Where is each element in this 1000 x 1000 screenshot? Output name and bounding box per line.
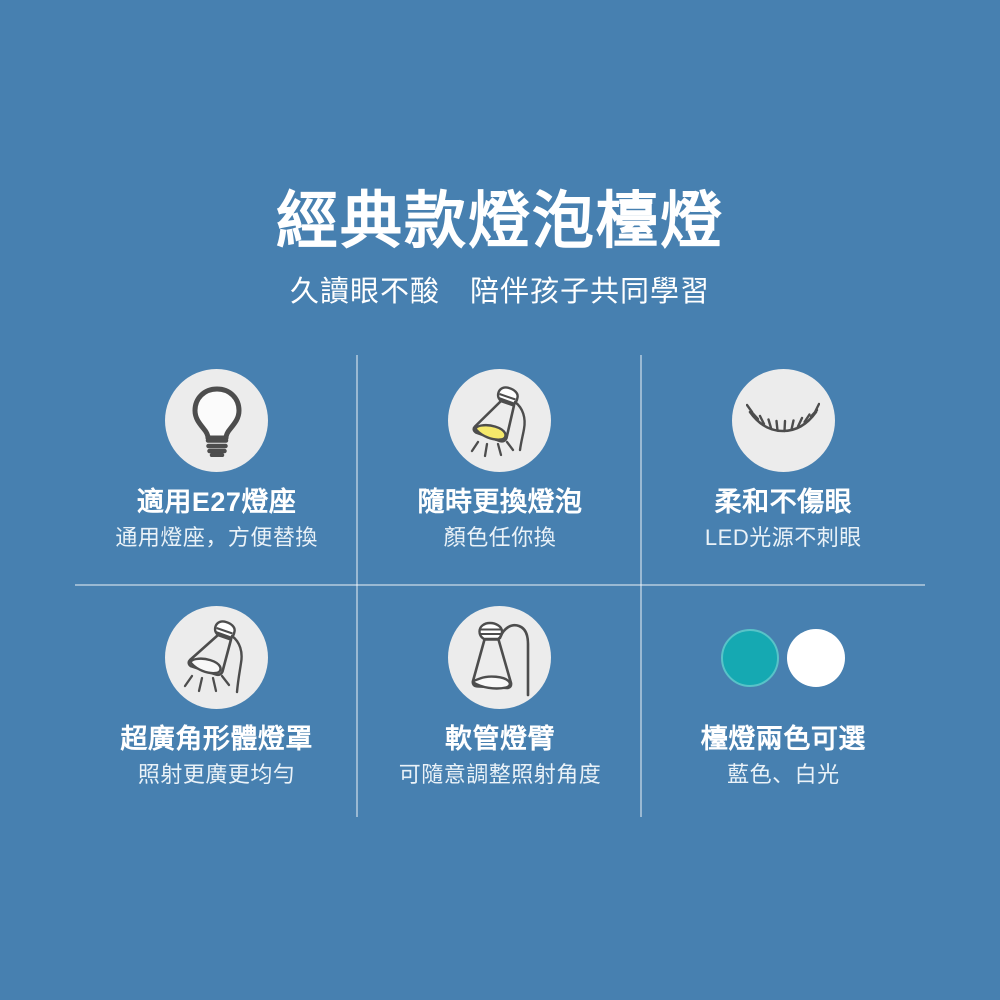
- wide-angle-lamp-shade-icon: [165, 606, 268, 709]
- feature-cell-two-colors: 檯燈兩色可選 藍色、白光: [642, 586, 925, 817]
- feature-cell-wide-angle-shade: 超廣角形體燈罩 照射更廣更均勻: [75, 586, 358, 817]
- feature-title: 適用E27燈座: [137, 488, 297, 518]
- lamp-shade-yellow-bulb-icon: [448, 369, 551, 472]
- feature-subtitle: 可隨意調整照射角度: [399, 763, 602, 787]
- feature-subtitle: LED光源不刺眼: [705, 526, 862, 550]
- feature-title: 超廣角形體燈罩: [120, 725, 313, 755]
- feature-subtitle: 藍色、白光: [727, 763, 840, 787]
- feature-cell-eye-friendly: 柔和不傷眼 LED光源不刺眼: [642, 355, 925, 586]
- product-feature-poster: 經典款燈泡檯燈 久讀眼不酸 陪伴孩子共同學習 適用E27燈座 通用燈座，方便替換: [0, 0, 1000, 1000]
- color-swatches-icon: [721, 606, 845, 709]
- feature-title: 軟管燈臂: [445, 725, 555, 755]
- feature-subtitle: 通用燈座，方便替換: [115, 526, 318, 550]
- feature-title: 檯燈兩色可選: [701, 725, 866, 755]
- feature-grid: 適用E27燈座 通用燈座，方便替換 隨時更換燈泡 顏色任你換: [75, 355, 925, 817]
- feature-cell-e27-socket: 適用E27燈座 通用燈座，方便替換: [75, 355, 358, 586]
- swatch-teal: [721, 629, 779, 687]
- poster-header: 經典款燈泡檯燈 久讀眼不酸 陪伴孩子共同學習: [0, 186, 1000, 310]
- feature-cell-flexible-arm: 軟管燈臂 可隨意調整照射角度: [358, 586, 641, 817]
- feature-title: 隨時更換燈泡: [417, 488, 582, 518]
- feature-subtitle: 顏色任你換: [444, 526, 557, 550]
- light-bulb-icon: [165, 369, 268, 472]
- flexible-arm-lamp-icon: [448, 606, 551, 709]
- page-title: 經典款燈泡檯燈: [0, 186, 1000, 257]
- feature-subtitle: 照射更廣更均勻: [138, 763, 296, 787]
- swatch-white: [787, 629, 845, 687]
- closed-eye-icon: [732, 369, 835, 472]
- feature-title: 柔和不傷眼: [715, 488, 853, 518]
- feature-cell-replaceable-bulb: 隨時更換燈泡 顏色任你換: [358, 355, 641, 586]
- page-subtitle: 久讀眼不酸 陪伴孩子共同學習: [0, 275, 1000, 310]
